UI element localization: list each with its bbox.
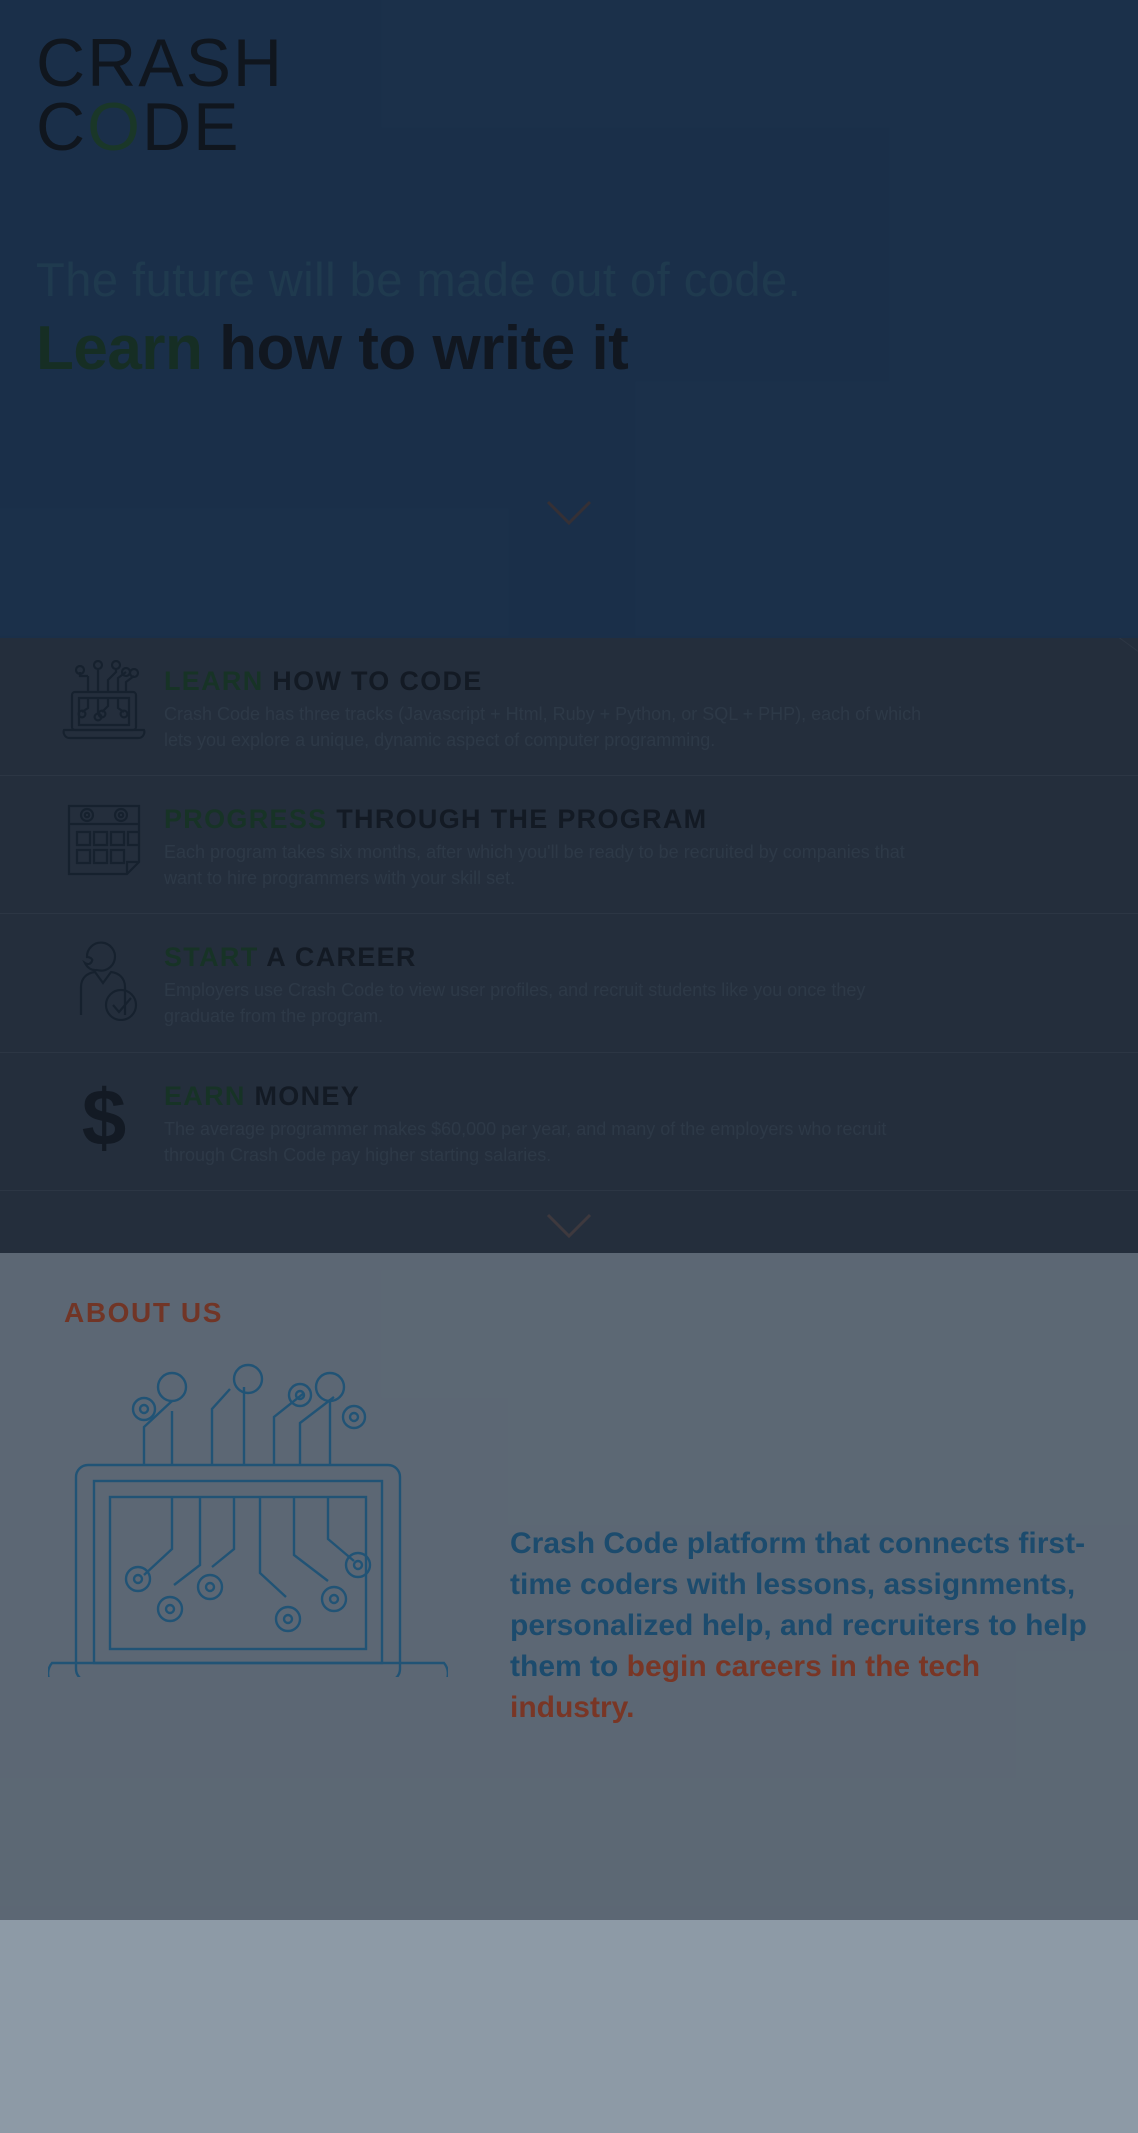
feature-title-accent: PROGRESS [164,804,327,834]
feature-title: START A CAREER [164,942,1098,973]
feature-title-rest: HOW TO CODE [264,666,483,696]
hero-section: CRASH CODE The future will be made out o… [0,0,1138,638]
logo-line-code: CODE [36,100,1138,156]
feature-title-accent: START [164,942,259,972]
person-check-icon [44,936,164,1020]
logo-letter-c: C [36,89,87,165]
svg-text:$: $ [82,1075,127,1159]
laptop-circuit-icon [44,660,164,744]
feature-item-earn-money[interactable]: $ EARN MONEY The average programmer make… [0,1053,1138,1191]
site-logo[interactable]: CRASH CODE [36,36,1138,156]
about-title: ABOUT US [64,1297,1098,1329]
feature-description: Employers use Crash Code to view user pr… [164,977,924,1029]
about-row: Crash Code platform that connects first-… [40,1347,1098,1728]
hero-copy: The future will be made out of code. Lea… [36,252,1138,384]
feature-item-start-a-career[interactable]: START A CAREER Employers use Crash Code … [0,914,1138,1052]
hero-scroll-chevron[interactable] [546,500,592,526]
chevron-down-icon [546,500,592,526]
hero-tagline: The future will be made out of code. [36,252,1138,307]
feature-item-learn-how-to-code[interactable]: LEARN HOW TO CODE Crash Code has three t… [0,638,1138,776]
hero-headline: Learn how to write it [36,313,1138,384]
feature-title: EARN MONEY [164,1081,1098,1112]
feature-title-accent: EARN [164,1081,246,1111]
hero-headline-rest: how to write it [202,314,628,383]
feature-body: LEARN HOW TO CODE Crash Code has three t… [164,660,1098,753]
feature-title: PROGRESS THROUGH THE PROGRAM [164,804,1098,835]
feature-body: START A CAREER Employers use Crash Code … [164,936,1098,1029]
about-paragraph: Crash Code platform that connects first-… [460,1347,1090,1728]
dollar-sign-icon: $ [44,1075,164,1159]
feature-title-rest: THROUGH THE PROGRAM [327,804,707,834]
calendar-icon [44,798,164,882]
features-section: LEARN HOW TO CODE Crash Code has three t… [0,638,1138,1253]
logo-letter-o-accent: O [87,100,142,156]
feature-item-progress-through-the-program[interactable]: PROGRESS THROUGH THE PROGRAM Each progra… [0,776,1138,914]
feature-description: Crash Code has three tracks (Javascript … [164,701,924,753]
feature-body: EARN MONEY The average programmer makes … [164,1075,1098,1168]
feature-body: PROGRESS THROUGH THE PROGRAM Each progra… [164,798,1098,891]
feature-description: The average programmer makes $60,000 per… [164,1116,924,1168]
feature-title-accent: LEARN [164,666,264,696]
feature-title: LEARN HOW TO CODE [164,666,1098,697]
laptop-circuit-illustration [40,1347,460,1677]
feature-description: Each program takes six months, after whi… [164,839,924,891]
feature-title-rest: A CAREER [259,942,417,972]
feature-title-rest: MONEY [246,1081,360,1111]
chevron-down-icon [546,1213,592,1239]
hero-headline-accent: Learn [36,314,202,383]
about-section: ABOUT US [0,1253,1138,2133]
logo-line-crash: CRASH [36,36,1138,92]
logo-letters-de: DE [142,89,240,165]
features-scroll-chevron[interactable] [546,1213,592,1239]
landing-page: CRASH CODE The future will be made out o… [0,0,1138,1920]
